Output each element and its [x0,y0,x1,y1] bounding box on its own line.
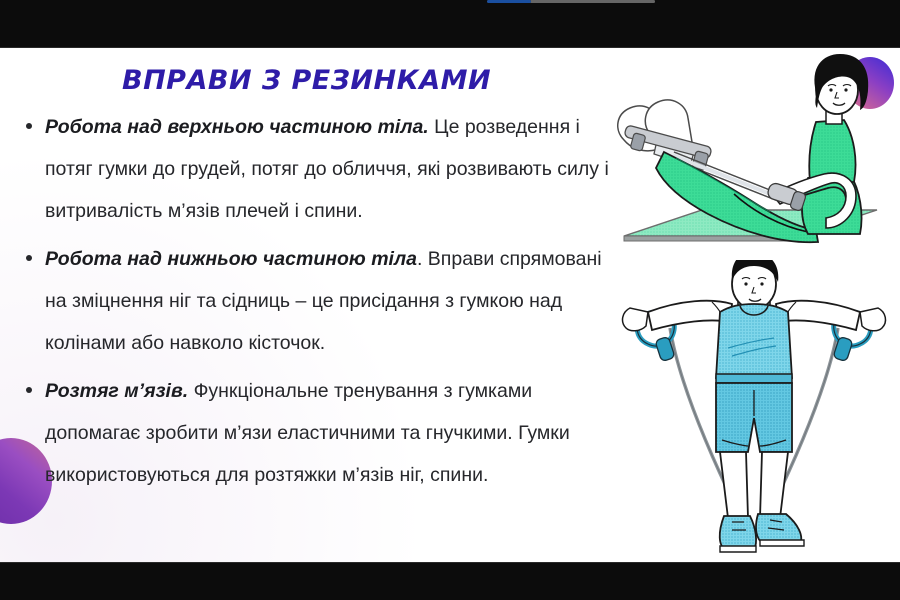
bullet-lead: Розтяг м’язів. [45,380,188,402]
legs [720,452,788,518]
list-item: Розтяг м’язів. Функціональне тренування … [18,370,618,496]
video-player: ВПРАВИ З РЕЗИНКАМИ Робота над верхньою ч… [0,0,900,600]
video-seek-bar[interactable] [487,0,655,3]
head [732,260,779,309]
slide-body: Робота над верхньою частиною тіла. Це ро… [18,106,618,502]
bullet-list: Робота над верхньою частиною тіла. Це ро… [18,106,618,496]
presentation-slide: ВПРАВИ З РЕЗИНКАМИ Робота над верхньою ч… [0,48,900,562]
letterbox-top-bar [0,0,900,48]
illustration-seated-resistance-band-row [602,48,900,263]
tank-top [716,304,792,383]
bullet-lead: Робота над нижньою частиною тіла [45,248,417,270]
slide-title: ВПРАВИ З РЕЗИНКАМИ [122,65,491,96]
seek-buffer [531,0,655,3]
letterbox-bottom-hairline [0,562,900,563]
bullet-lead: Робота над верхньою частиною тіла. [45,116,429,138]
letterbox-bottom-bar [0,562,900,600]
shoes [720,514,804,552]
shorts [716,383,792,452]
seek-played [487,0,531,3]
woman-body [766,54,868,234]
list-item: Робота над верхньою частиною тіла. Це ро… [18,106,618,232]
illustration-standing-lateral-raise [608,260,900,562]
list-item: Робота над нижньою частиною тіла. Вправи… [18,238,618,364]
